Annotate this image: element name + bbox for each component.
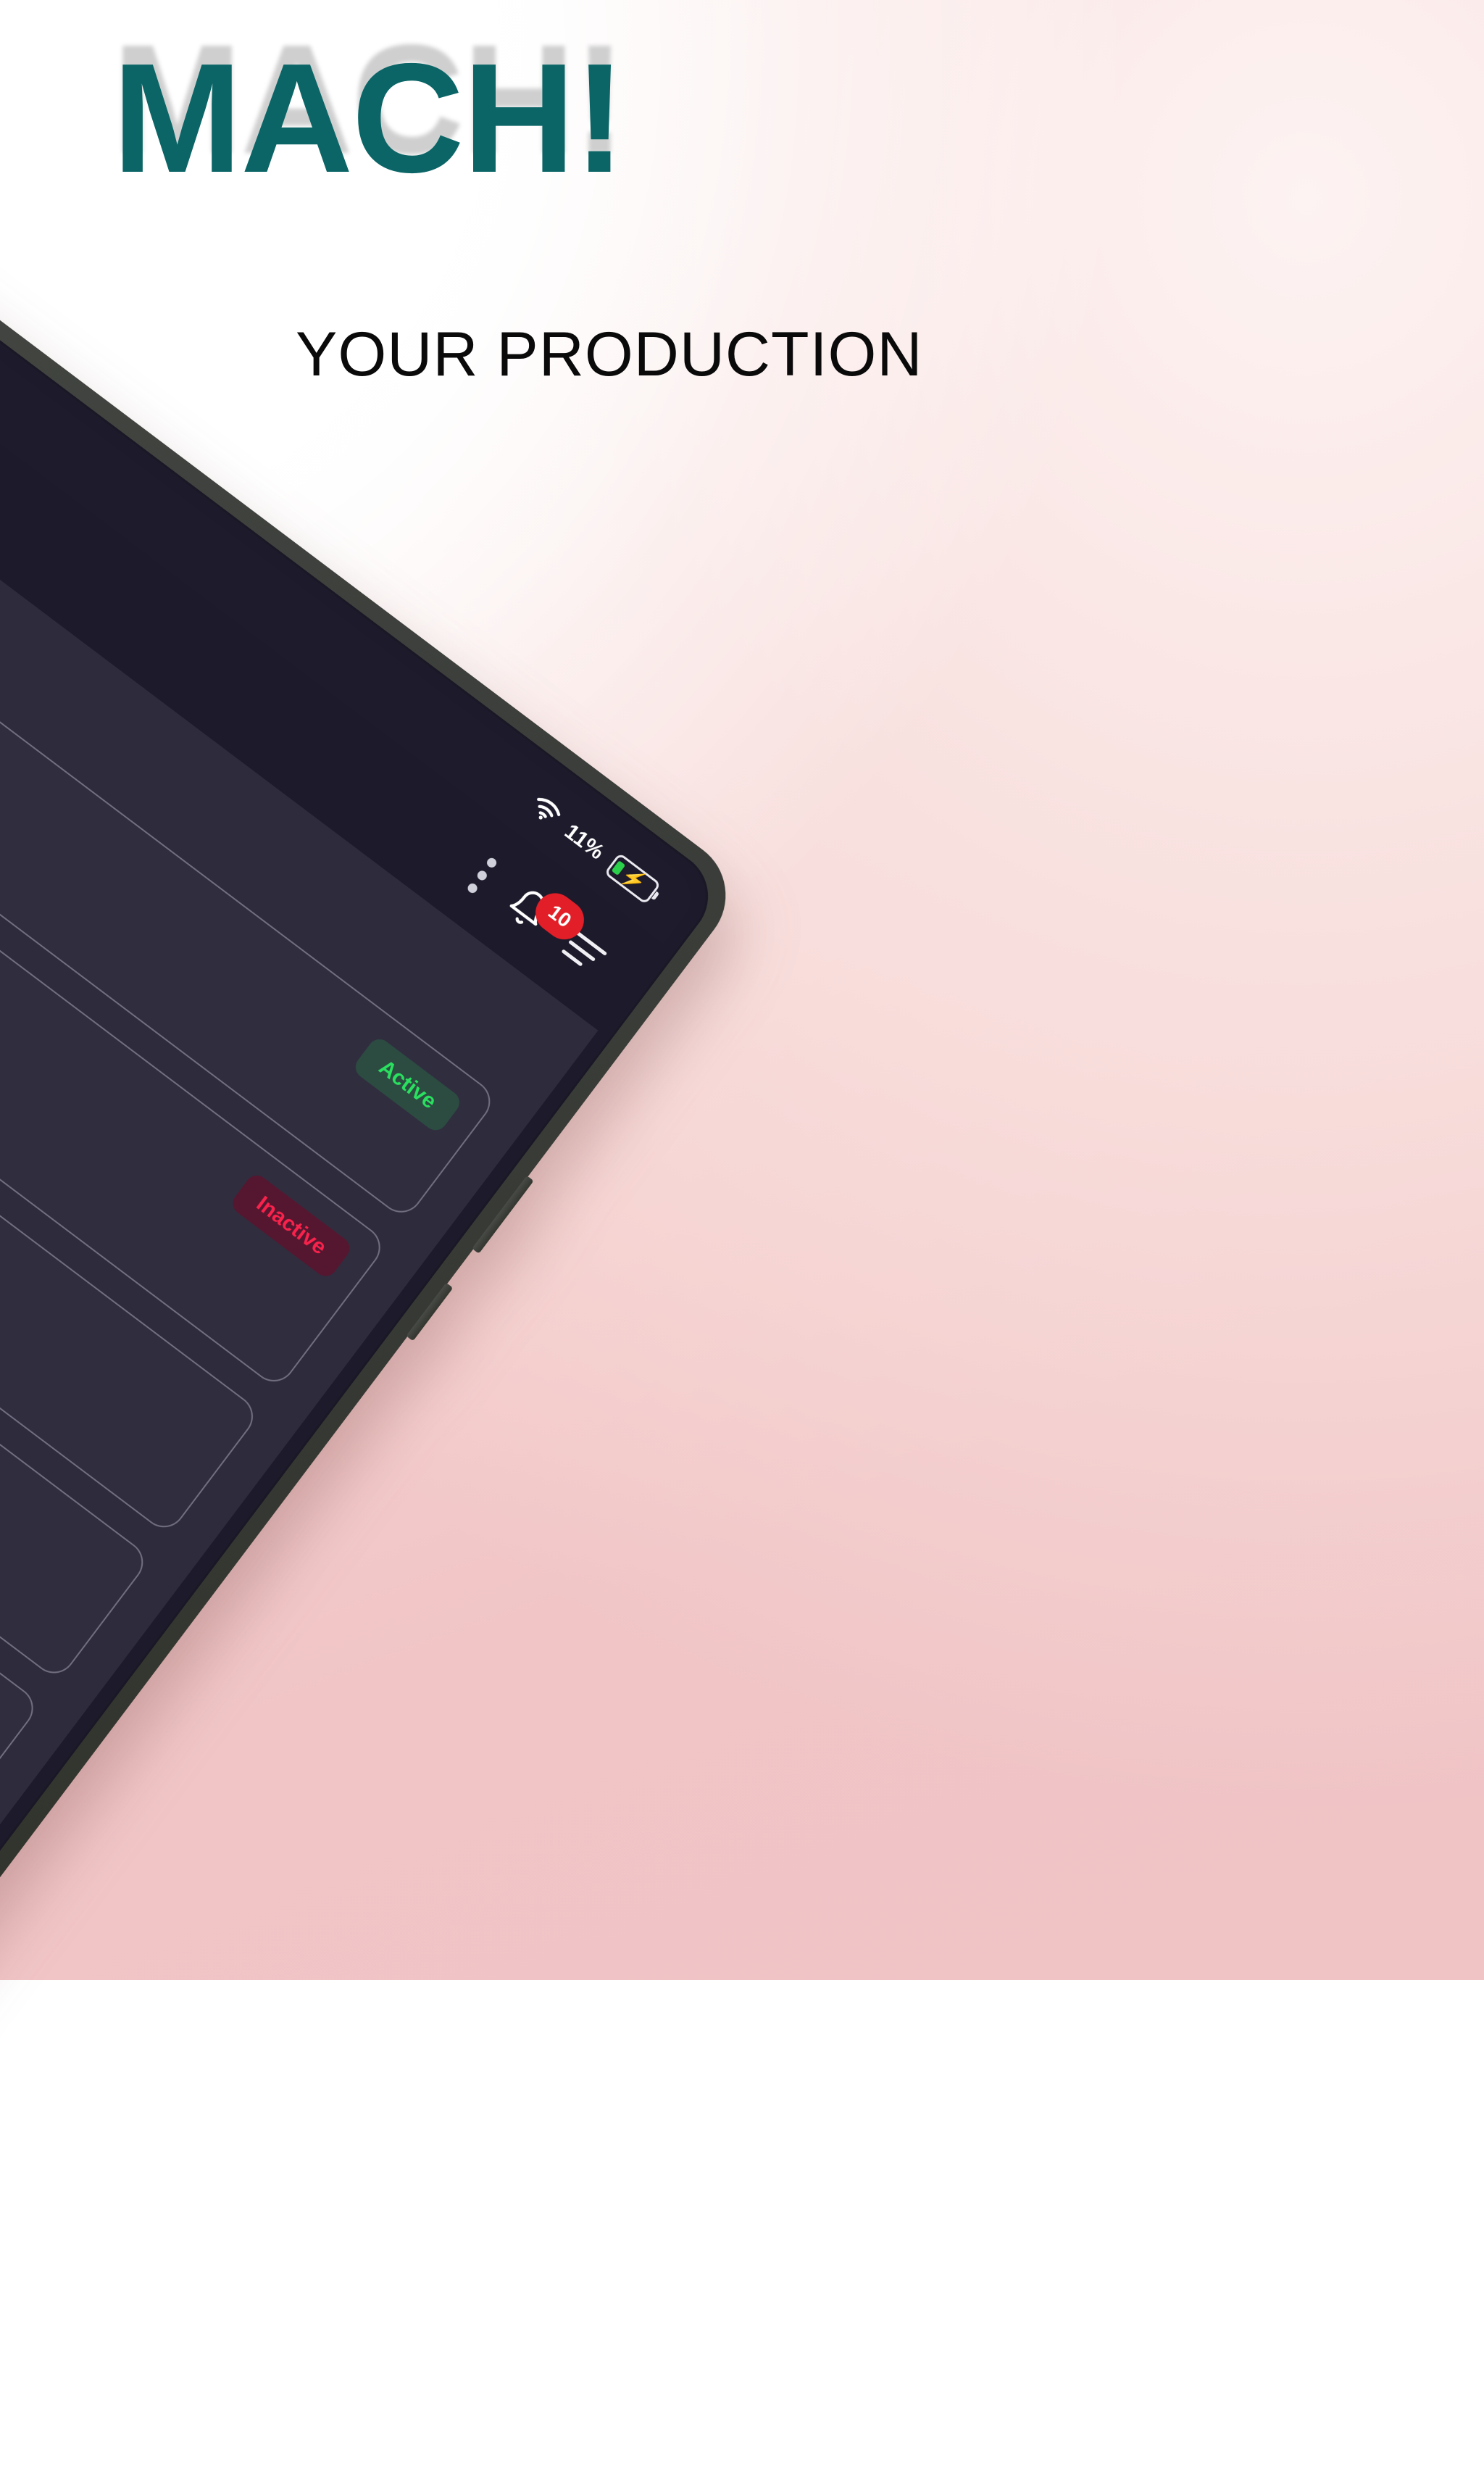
more-dots-icon[interactable]: [466, 856, 499, 894]
hero-headline: MACH! MACH!: [112, 40, 625, 196]
bell-icon[interactable]: 10: [499, 880, 557, 939]
status-badge: Active: [351, 1034, 464, 1134]
wifi-icon: [524, 791, 566, 833]
battery-charging-icon: ⚡: [604, 852, 661, 905]
battery-percent-label: 11%: [559, 820, 609, 865]
status-badge: Inactive: [228, 1171, 354, 1281]
hero-subtitle: YOUR PRODUCTION: [296, 319, 922, 391]
hero-headline-text: MACH!: [112, 30, 625, 205]
